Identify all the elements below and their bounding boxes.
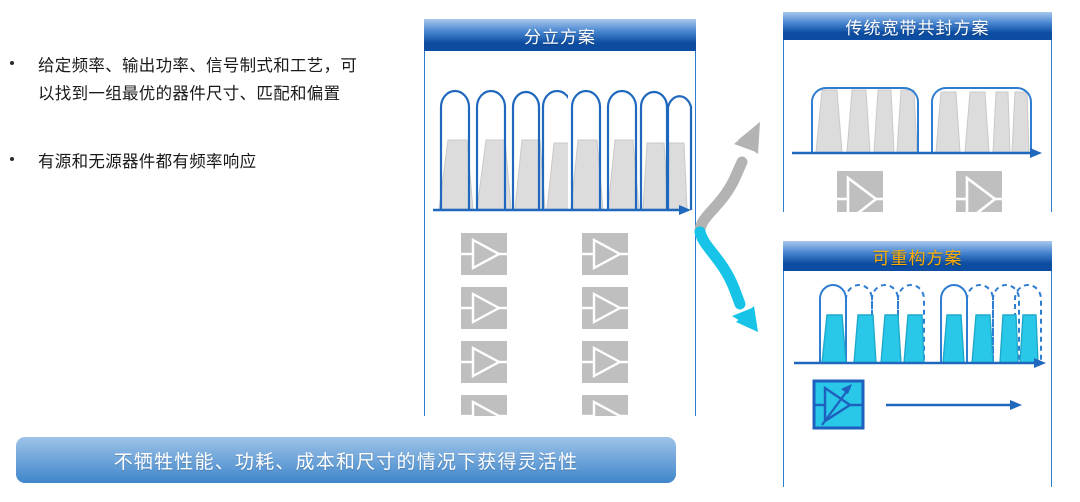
discrete-figure-main [425, 51, 695, 416]
bullet-text: 给定频率、输出功率、信号制式和工艺，可以找到一组最优的器件尺寸、匹配和偏置 [38, 52, 358, 108]
amplifier-block [461, 341, 507, 383]
amplifier-block [582, 233, 628, 275]
amplifier-block [582, 395, 628, 416]
bullet-dot-icon [10, 61, 14, 65]
amplifier-block [461, 287, 507, 329]
amplifier-block [582, 341, 628, 383]
panel-title: 可重构方案 [873, 244, 963, 269]
summary-banner: 不牺牲性能、功耗、成本和尺寸的情况下获得灵活性 [16, 437, 676, 483]
panel-title: 传统宽带共封方案 [846, 14, 990, 39]
list-item: 有源和无源器件都有频率响应 [0, 148, 400, 176]
amplifier-block [461, 395, 507, 416]
panel-header: 可重构方案 [783, 241, 1052, 271]
amplifier-block [461, 233, 507, 275]
bullet-text: 有源和无源器件都有频率响应 [38, 148, 358, 176]
amplifier-block [956, 171, 1002, 212]
broadband-figure [784, 40, 1051, 212]
panel-body [783, 271, 1052, 487]
panel-body [783, 40, 1052, 212]
signal-group-b [936, 92, 1029, 152]
slide-canvas: 给定频率、输出功率、信号制式和工艺，可以找到一组最优的器件尺寸、匹配和偏置 有源… [0, 0, 1080, 502]
panel-body [424, 51, 696, 416]
amplifier-block [582, 287, 628, 329]
bullet-dot-icon [10, 157, 14, 161]
reconfigurable-figure [784, 271, 1051, 487]
panel-broadband-solution: 传统宽带共封方案 [783, 12, 1052, 212]
amplifier-block [837, 171, 883, 212]
panel-reconfigurable-solution: 可重构方案 [783, 241, 1052, 487]
panel-title: 分立方案 [524, 23, 596, 48]
tunable-amplifier-block [814, 381, 863, 428]
bullet-list: 给定频率、输出功率、信号制式和工艺，可以找到一组最优的器件尺寸、匹配和偏置 有源… [0, 52, 400, 202]
signal-group-b-final [571, 140, 687, 209]
signal-group-a [822, 315, 924, 363]
arrow-to-reconfigurable-icon [700, 232, 758, 332]
panel-discrete-solution: 分立方案 [424, 19, 696, 416]
summary-banner-text: 不牺牲性能、功耗、成本和尺寸的情况下获得灵活性 [114, 447, 579, 474]
signal-group-b [943, 315, 1038, 363]
arrow-to-broadband-icon [700, 122, 760, 230]
panel-header: 传统宽带共封方案 [783, 12, 1052, 40]
panel-header: 分立方案 [424, 19, 696, 51]
list-item: 给定频率、输出功率、信号制式和工艺，可以找到一组最优的器件尺寸、匹配和偏置 [0, 52, 400, 108]
signal-group-a [816, 90, 917, 152]
